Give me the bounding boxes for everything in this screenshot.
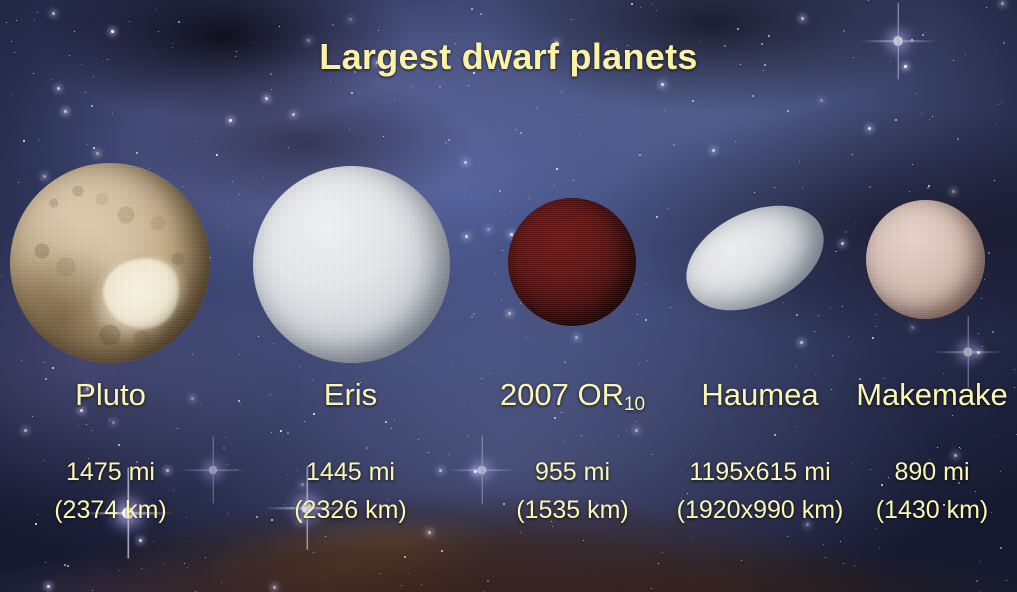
star [921,113,922,114]
star [18,182,19,183]
planet-diameter-mi-pluto: 1475 mi [8,458,213,486]
star [487,228,490,231]
star [412,86,413,87]
star [441,550,443,552]
star [386,146,387,147]
star [656,216,658,218]
star [820,99,823,102]
star [741,560,742,561]
star [383,136,384,137]
star [646,283,647,284]
star [489,373,490,374]
star [656,10,657,11]
planet-name-pluto: Pluto [8,378,213,412]
star [463,176,464,177]
star [645,196,646,197]
star [774,187,775,188]
star [93,147,95,149]
star [464,161,467,164]
star [249,242,250,243]
planet-diameter-mi-haumea: 1195x615 mi [655,458,865,486]
planet-name-or10-subscript: 10 [624,394,645,415]
spike-star-core [963,347,972,356]
star [6,22,7,23]
star [515,129,516,130]
star [526,337,527,338]
star [529,198,530,199]
star [271,89,272,90]
star [520,303,521,304]
pluto-texture-grain [10,163,210,363]
star [909,191,910,192]
star [536,108,537,109]
star [667,208,668,209]
planet-name-pluto-text: Pluto [75,377,146,412]
star [852,154,853,155]
planet-name-makemake: Makemake [848,378,1016,412]
star [957,138,959,140]
star [631,3,633,5]
star [221,582,222,583]
star [1006,580,1007,581]
planet-column-2007-or10: 2007 OR10 955 mi (1535 km) [480,378,665,524]
star [349,18,352,21]
star [911,326,914,329]
star [801,205,802,206]
bright-star [111,30,114,33]
star [239,354,240,355]
star [848,336,849,337]
star [401,585,402,586]
star [664,110,665,111]
bright-star [57,87,60,90]
star [823,544,824,545]
eris-texture-grain [253,166,450,363]
star [800,341,803,344]
star [520,132,522,134]
star [351,92,353,94]
star [814,331,815,332]
star [737,28,739,30]
star [195,141,196,142]
star [213,2,214,3]
star [801,17,804,20]
star [799,161,800,162]
star [37,12,38,13]
star [480,13,482,15]
star [511,212,512,213]
star [92,590,93,591]
planet-diameter-mi-makemake: 890 mi [848,458,1016,486]
star [825,557,826,558]
planet-name-makemake-text: Makemake [856,377,1008,412]
star [205,557,206,558]
star [184,563,185,564]
star [929,119,930,120]
makemake-texture-grain [866,200,985,319]
star [332,24,334,26]
star [499,190,501,192]
star [288,147,289,148]
star [895,119,897,121]
star [421,584,422,585]
star [439,86,441,88]
star [561,91,562,92]
star [787,110,789,112]
star [453,34,454,35]
star [875,314,876,315]
star [842,306,843,307]
star [216,154,218,156]
star [487,580,489,582]
star [649,265,650,266]
star [186,541,187,542]
star [394,99,395,100]
bright-star [661,83,664,86]
planet-diameter-mi-eris: 1445 mi [248,458,453,486]
star [448,139,450,141]
star [875,326,876,327]
planet-diameter-km-2007-or10: (1535 km) [480,496,665,524]
star [840,541,841,542]
planet-column-makemake: Makemake 890 mi (1430 km) [848,378,1016,524]
planet-body-eris [253,166,450,363]
star [34,20,35,21]
star [752,95,754,97]
star [1001,2,1004,5]
star [662,552,663,553]
star [451,361,452,362]
star [928,185,930,187]
star [52,12,55,15]
star [996,123,997,124]
star [495,273,496,274]
planet-name-haumea-text: Haumea [701,377,818,412]
star [580,134,581,135]
star [119,570,120,571]
star [1001,102,1002,103]
bright-star [292,113,295,116]
star [639,363,640,364]
star [670,307,671,308]
star [192,354,193,355]
star [169,169,170,170]
star [783,302,784,303]
star [675,263,676,264]
star [832,355,833,356]
star [915,93,916,94]
star [258,336,259,337]
star [153,541,154,542]
planet-diameter-mi-2007-or10: 955 mi [480,458,665,486]
star [564,361,566,363]
star [952,190,955,193]
star [52,367,54,369]
planet-diameter-km-eris: (2326 km) [248,496,453,524]
star [992,331,994,333]
star [854,222,855,223]
star [1000,547,1002,549]
star [502,250,503,251]
star [988,252,990,254]
star [310,86,311,87]
star [986,7,987,8]
planet-name-2007-or10: 2007 OR10 [480,378,665,412]
star [639,154,641,156]
star [381,163,382,164]
star [210,257,211,258]
star [273,586,276,589]
star [575,336,578,339]
star [41,179,42,180]
star [149,168,150,169]
star [843,563,844,564]
star [64,110,67,113]
star [141,568,142,569]
star [583,540,584,541]
star [265,97,268,100]
bright-star [139,539,142,542]
star [64,564,66,566]
star [571,19,572,20]
star [96,152,99,155]
star [796,366,797,367]
star [239,194,240,195]
star [273,343,274,344]
planet-body-makemake [866,200,985,319]
planet-column-haumea: Haumea 1195x615 mi (1920x990 km) [655,378,865,524]
star [796,314,798,316]
star [12,94,13,95]
star [464,194,465,195]
star [872,337,874,339]
star [1014,369,1015,370]
star [647,360,648,361]
star [994,180,995,181]
star [238,125,239,126]
star [573,180,574,181]
bright-star [712,149,715,152]
star [635,216,636,217]
planet-column-eris: Eris 1445 mi (2326 km) [248,378,453,524]
star [44,362,45,363]
star [52,79,53,80]
star [982,346,983,347]
star [43,175,46,178]
planet-body-2007-or10 [508,198,636,326]
star [845,231,847,233]
star [299,366,300,367]
star [802,187,803,188]
star [927,187,929,189]
star [414,360,415,361]
star [978,333,979,334]
star [471,316,473,318]
star [754,192,755,193]
star [326,577,327,578]
star [16,20,17,21]
star [979,561,980,562]
planet-name-haumea: Haumea [655,378,865,412]
star [471,8,473,10]
star [87,144,88,145]
star [182,186,183,187]
star [67,565,69,567]
bright-star [229,119,232,122]
star [473,313,475,315]
star [178,21,180,23]
star [501,299,502,300]
star [129,21,130,22]
star [651,588,652,589]
planet-column-pluto: Pluto 1475 mi (2374 km) [8,378,213,524]
star [74,31,75,32]
star [641,346,642,347]
star [854,565,855,566]
star [976,580,978,582]
planet-labels-row: Pluto 1475 mi (2374 km) Eris 1445 mi (23… [0,378,1017,538]
star [912,164,913,165]
bright-star [841,242,844,245]
star [232,181,233,182]
star [835,251,836,252]
planet-diameter-km-haumea: (1920x990 km) [655,496,865,524]
star [313,552,314,553]
planet-name-eris: Eris [248,378,453,412]
star [39,139,40,140]
star [640,7,641,8]
star [998,104,999,105]
star [21,360,22,361]
star [378,30,379,31]
star [830,308,831,309]
star [227,202,228,203]
page-title: Largest dwarf planets [0,36,1017,78]
star [925,32,926,33]
star [554,184,555,185]
star [818,315,819,316]
star [815,374,816,375]
star [984,279,985,280]
planet-diameter-km-pluto: (2374 km) [8,496,213,524]
star [578,114,579,115]
star [981,298,982,299]
star [349,129,350,130]
star [445,142,447,144]
star [868,0,869,1]
star [136,152,138,154]
star [158,31,159,32]
star [510,233,513,236]
star [637,314,638,315]
star [692,100,694,102]
star [227,226,228,227]
star [645,319,647,321]
star [404,556,406,558]
star [869,186,871,188]
star [156,9,157,10]
star [380,573,381,574]
star [45,562,46,563]
star [47,585,50,588]
star [42,150,43,151]
star [330,81,331,82]
dwarf-planets-infographic: Largest dwarf planets Pluto 1475 mi (237… [0,0,1017,592]
planet-name-or10-text: 2007 OR [500,377,624,412]
star [932,116,933,117]
star [187,567,188,568]
star [673,144,675,146]
star [468,85,469,86]
star [263,176,264,177]
star [735,141,736,142]
star [408,573,409,574]
star [843,30,845,32]
star [112,113,113,114]
star [279,26,280,27]
star [956,363,957,364]
star [1,275,2,276]
bright-star [465,235,468,238]
planet-diameter-km-makemake: (1430 km) [848,496,1016,524]
planet-name-eris-text: Eris [324,377,377,412]
star [23,140,25,142]
star [658,563,659,564]
star [237,564,238,565]
planet-body-pluto [10,163,210,363]
star [85,92,86,93]
bright-star [868,127,871,130]
star [508,312,511,315]
star [164,563,165,564]
star [652,4,653,5]
star [879,548,880,549]
star [943,373,944,374]
star [91,105,93,107]
star [556,168,558,170]
star [979,591,980,592]
or10-texture-grain [508,198,636,326]
